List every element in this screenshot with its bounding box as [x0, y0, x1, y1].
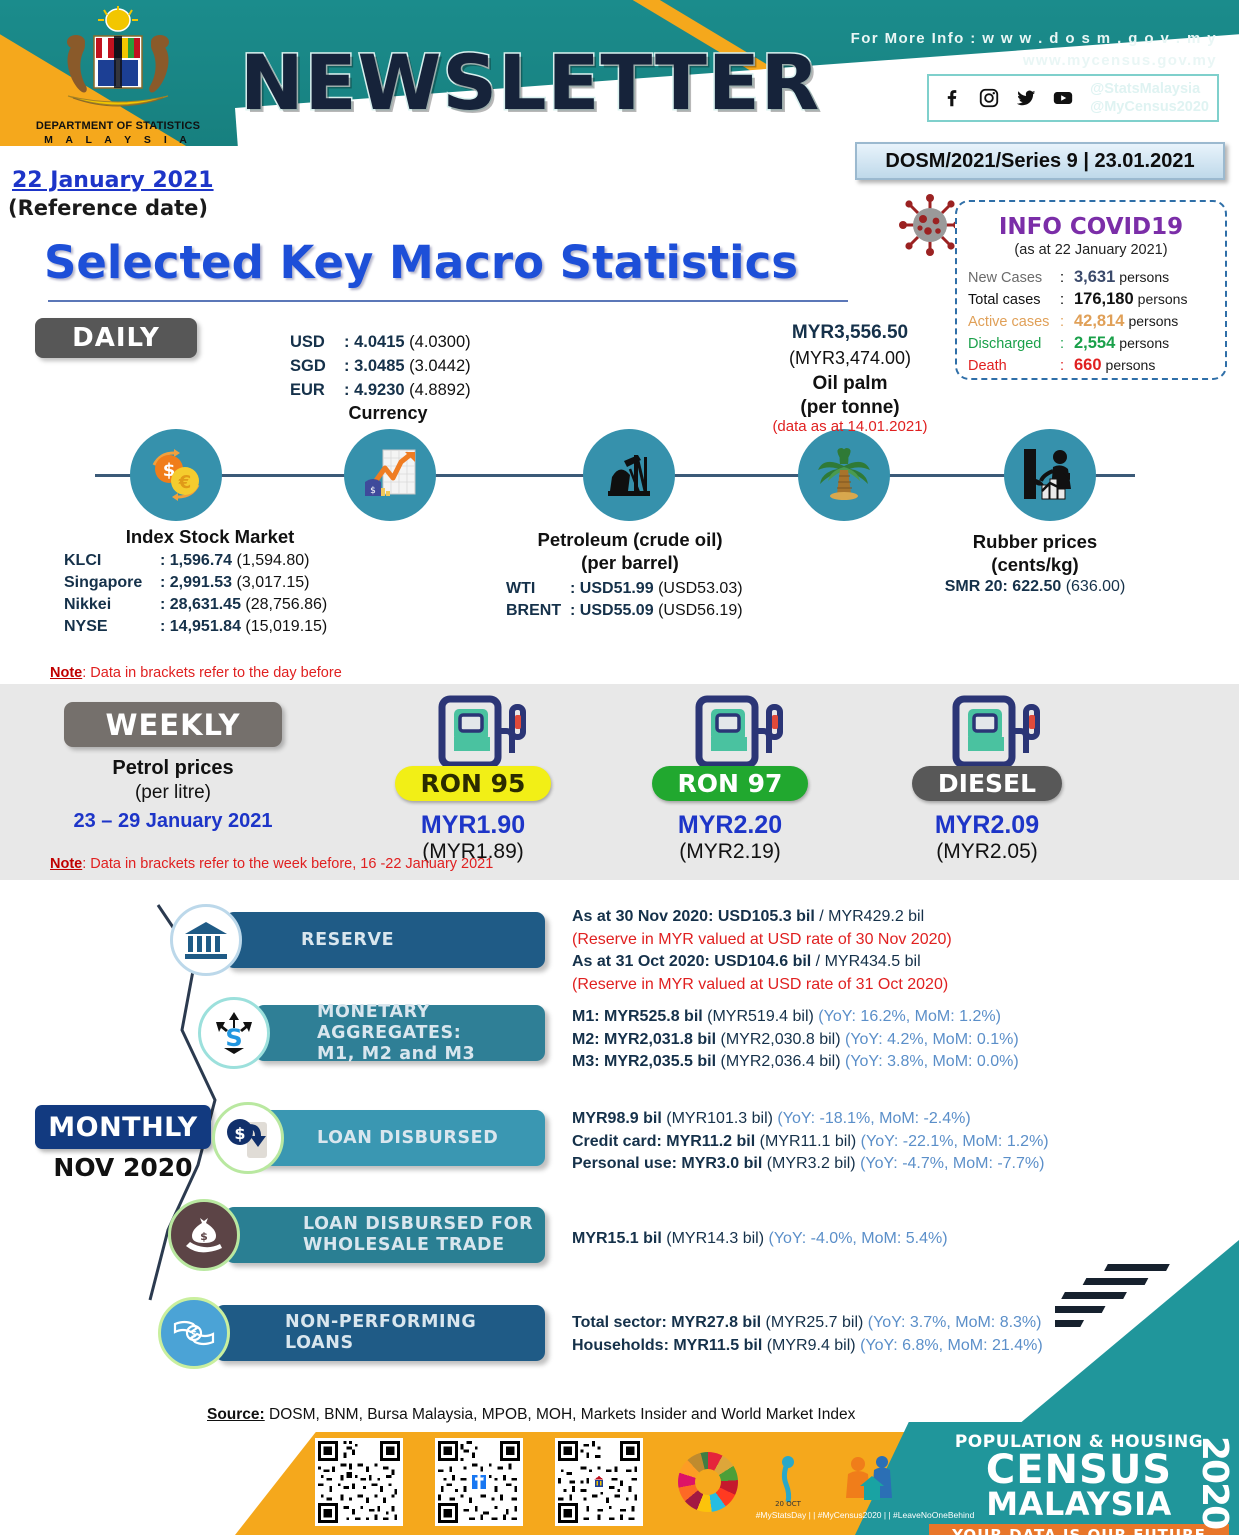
org-name-line1: DEPARTMENT OF STATISTICS — [20, 120, 216, 134]
svg-text:S: S — [225, 1024, 242, 1052]
petroleum-number-wti: USD51.99 — [580, 580, 654, 597]
weekly-note: Note: Data in brackets refer to the week… — [50, 856, 493, 872]
covid-row-new-cases: New Cases : 3,631 persons — [968, 266, 1230, 288]
stock-market-values: KLCI : 1,596.74 (1,594.80) Singapore : 2… — [64, 550, 364, 638]
stock-value-singapore: : 2,991.53 (3,017.15) — [160, 572, 309, 594]
loan-line-total: MYR98.9 bil (MYR101.3 bil) (YoY: -18.1%,… — [572, 1108, 1192, 1131]
petroleum-label-line1: Petroleum (crude oil) — [480, 528, 780, 551]
stock-value-nyse: : 14,951.84 (15,019.15) — [160, 616, 327, 638]
stock-row-nyse: NYSE : 14,951.84 (15,019.15) — [64, 616, 364, 638]
stock-number-klci: 1,596.74 — [170, 552, 232, 569]
currency-row-sgd: SGD : 3.0485 (3.0442) — [290, 354, 471, 378]
page-title: Selected Key Macro Statistics — [44, 236, 798, 289]
petroleum-prev-wti: (USD53.03) — [658, 580, 742, 597]
rubber-label-line2: (cents/kg) — [900, 553, 1170, 576]
oil-palm-prev: (MYR3,474.00) — [700, 348, 1000, 369]
daily-note-prefix: Note — [50, 665, 82, 681]
petroleum-values: WTI : USD51.99 (USD53.03) BRENT : USD55.… — [506, 578, 806, 622]
census-line2: CENSUS — [929, 1452, 1229, 1489]
stock-name-singapore: Singapore — [64, 572, 160, 594]
petroleum-row-brent: BRENT : USD55.09 (USD56.19) — [506, 600, 806, 622]
stock-market-label: Index Stock Market — [60, 525, 360, 548]
fuel-prev-ron97: (MYR2.19) — [615, 840, 845, 864]
petroleum-name-wti: WTI — [506, 578, 570, 600]
svg-text:$: $ — [370, 486, 376, 496]
monthly-bar-loan-disbursed: LOAN DISBURSED — [245, 1110, 545, 1166]
covid-row-active-cases: Active cases : 42,814 persons — [968, 310, 1230, 332]
currency-code-eur: EUR — [290, 378, 344, 402]
monthly-text-wholesale: MYR15.1 bil (MYR14.3 bil) (YoY: -4.0%, M… — [572, 1228, 1192, 1251]
census-tagline: YOUR DATA IS OUR FUTURE — [929, 1524, 1229, 1535]
stock-value-nikkei: : 28,631.45 (28,756.86) — [160, 594, 327, 616]
youtube-icon[interactable] — [1048, 83, 1078, 113]
petroleum-label: Petroleum (crude oil) (per barrel) — [480, 528, 780, 574]
currency-exchange-icon: $ € — [130, 429, 222, 521]
oil-palm-tree-icon — [798, 429, 890, 521]
svg-text:€: € — [178, 472, 192, 493]
org-name: DEPARTMENT OF STATISTICS M A L A Y S I A — [20, 120, 216, 147]
monthly-bar-wholesale-trade: LOAN DISBURSED FOR WHOLESALE TRADE — [225, 1207, 545, 1263]
series-badge-text: DOSM/2021/Series 9 | 23.01.2021 — [885, 150, 1194, 173]
covid-unit: persons — [1128, 310, 1178, 332]
reference-date: 22 January 2021 — [12, 168, 214, 193]
oil-pump-icon — [583, 429, 675, 521]
fuel-badge-diesel: DIESEL — [912, 766, 1062, 801]
covid-subtitle: (as at 22 January 2021) — [955, 242, 1227, 258]
reserve-line-1: As at 30 Nov 2020: USD105.3 bil / MYR429… — [572, 906, 1192, 929]
census-family-logo-icon — [838, 1448, 904, 1514]
daily-badge-label: DAILY — [72, 323, 160, 353]
decor-stripes — [1055, 1258, 1215, 1338]
social-links[interactable]: @StatsMalaysia @MyCensus2020 — [927, 74, 1219, 122]
rubber-label: Rubber prices (cents/kg) — [900, 530, 1170, 576]
petrol-title: Petrol prices — [64, 757, 282, 780]
monthly-badge-label: MONTHLY — [48, 1112, 197, 1143]
oil-palm-value: MYR3,556.50 — [700, 322, 1000, 344]
stock-number-nyse: 14,951.84 — [170, 618, 241, 635]
loan-phone-icon: $ — [212, 1102, 284, 1174]
weekly-badge: WEEKLY — [64, 702, 282, 747]
bank-icon — [170, 904, 242, 976]
wholesale-label-line2: WHOLESALE TRADE — [303, 1235, 505, 1255]
qr-code-mycensus[interactable] — [555, 1438, 643, 1526]
weekly-badge-label: WEEKLY — [105, 708, 240, 742]
stock-name-nikkei: Nikkei — [64, 594, 160, 616]
petroleum-value-brent: : USD55.09 (USD56.19) — [570, 600, 743, 622]
covid-unit: persons — [1106, 354, 1156, 376]
monthly-bar-label-npl: NON-PERFORMING LOANS — [285, 1312, 545, 1354]
covid-title: INFO COVID19 — [955, 214, 1227, 240]
petroleum-prev-brent: (USD56.19) — [658, 602, 742, 619]
covid-unit: persons — [1138, 288, 1188, 310]
monthly-bar-monetary-aggregates: MONETARY AGGREGATES: M1, M2 and M3 — [255, 1005, 545, 1061]
rubber-values: SMR 20: 622.50 (636.00) — [900, 578, 1170, 596]
monthly-bar-reserve: RESERVE — [225, 912, 545, 968]
svg-text:$: $ — [234, 1124, 245, 1143]
title-divider — [48, 300, 848, 302]
malaysia-coat-of-arms-icon — [28, 6, 208, 126]
mystats-day-logo-icon: 20 OCT — [758, 1452, 818, 1512]
wholesale-line-total: MYR15.1 bil (MYR14.3 bil) (YoY: -4.0%, M… — [572, 1228, 1192, 1251]
fuel-price-ron95: MYR1.90 — [358, 811, 588, 840]
petroleum-row-wti: WTI : USD51.99 (USD53.03) — [506, 578, 806, 600]
petroleum-number-brent: USD55.09 — [580, 602, 654, 619]
monthly-text-reserve: As at 30 Nov 2020: USD105.3 bil / MYR429… — [572, 906, 1192, 996]
currency-label: Currency — [290, 403, 486, 424]
petrol-subtitle: (per litre) — [64, 782, 282, 804]
rubber-prev-smr20: (636.00) — [1066, 578, 1126, 595]
currency-value-usd: : 4.0415 (4.0300) — [344, 330, 471, 354]
twitter-icon[interactable] — [1011, 83, 1041, 113]
stock-prev-nyse: (15,019.15) — [245, 618, 327, 635]
rubber-number-smr20: 622.50 — [1012, 578, 1061, 595]
monetary-line-m2: M2: MYR2,031.8 bil (MYR2,030.8 bil) (YoY… — [572, 1029, 1192, 1052]
fuel-ron97: RON 97 MYR2.20 (MYR2.19) — [615, 693, 845, 864]
reserve-line-2: (Reserve in MYR valued at USD rate of 30… — [572, 929, 1192, 952]
covid-colon: : — [1060, 267, 1074, 289]
newsletter-page: DEPARTMENT OF STATISTICS M A L A Y S I A… — [0, 0, 1239, 1535]
svg-text:$: $ — [191, 1330, 197, 1340]
petrol-date-range: 23 – 29 January 2021 — [44, 810, 302, 833]
money-bag-hand-icon: $ — [168, 1199, 240, 1271]
oil-palm-label-line2: (per tonne) — [700, 396, 1000, 420]
monthly-badge: MONTHLY — [35, 1105, 211, 1149]
money-flow-icon: S — [198, 997, 270, 1069]
monthly-bar-npl: NON-PERFORMING LOANS — [215, 1305, 545, 1361]
currency-prev-eur: (4.8892) — [409, 381, 470, 399]
monthly-bar-label-reserve: RESERVE — [301, 930, 394, 951]
source-line: Source: DOSM, BNM, Bursa Malaysia, MPOB,… — [207, 1406, 855, 1424]
currency-code-sgd: SGD — [290, 354, 344, 378]
currency-prev-usd: (4.0300) — [409, 333, 470, 351]
fuel-diesel: DIESEL MYR2.09 (MYR2.05) — [872, 693, 1102, 864]
reserve-line-3: As at 31 Oct 2020: USD104.6 bil / MYR434… — [572, 951, 1192, 974]
coronavirus-icon — [898, 193, 962, 257]
covid-colon: : — [1060, 289, 1074, 311]
covid-value-death: 660 — [1074, 354, 1106, 376]
covid-colon: : — [1060, 333, 1074, 355]
daily-badge: DAILY — [35, 318, 197, 358]
more-info-line2: www.mycensus.gov.my — [851, 50, 1217, 72]
stock-prev-singapore: (3,017.15) — [237, 574, 310, 591]
stock-prev-nikkei: (28,756.86) — [245, 596, 327, 613]
currency-rate-sgd: 3.0485 — [354, 357, 404, 375]
stock-number-nikkei: 28,631.45 — [170, 596, 241, 613]
covid-label-new-cases: New Cases — [968, 267, 1060, 289]
series-badge: DOSM/2021/Series 9 | 23.01.2021 — [855, 142, 1225, 180]
stock-name-klci: KLCI — [64, 550, 160, 572]
stock-name-nyse: NYSE — [64, 616, 160, 638]
census-logo: POPULATION & HOUSING CENSUS MALAYSIA YOU… — [929, 1432, 1229, 1535]
handover-money-icon: $ — [158, 1297, 230, 1369]
daily-note: Note: Data in brackets refer to the day … — [50, 665, 342, 681]
covid-row-total-cases: Total cases : 176,180 persons — [968, 288, 1230, 310]
instagram-icon[interactable] — [974, 83, 1004, 113]
monthly-bar-label-wholesale: LOAN DISBURSED FOR WHOLESALE TRADE — [303, 1214, 533, 1256]
census-line3: MALAYSIA — [929, 1489, 1229, 1520]
covid-unit: persons — [1119, 266, 1169, 288]
fuel-price-diesel: MYR2.09 — [872, 811, 1102, 840]
loan-line-credit-card: Credit card: MYR11.2 bil (MYR11.1 bil) (… — [572, 1131, 1192, 1154]
census-year: 2020 — [1194, 1436, 1235, 1528]
monthly-month: NOV 2020 — [35, 1153, 211, 1182]
rubber-name-smr20: SMR 20: — [945, 578, 1008, 595]
reserve-line-4: (Reserve in MYR valued at USD rate of 31… — [572, 974, 1192, 997]
currency-code-usd: USD — [290, 330, 344, 354]
org-name-line2: M A L A Y S I A — [20, 134, 216, 147]
sdg-wheel-center — [695, 1469, 721, 1495]
stock-row-singapore: Singapore : 2,991.53 (3,017.15) — [64, 572, 364, 594]
stock-row-klci: KLCI : 1,596.74 (1,594.80) — [64, 550, 364, 572]
petroleum-label-line2: (per barrel) — [480, 551, 780, 574]
fuel-badge-ron95: RON 95 — [395, 766, 552, 801]
currency-rates: USD : 4.0415 (4.0300) SGD : 3.0485 (3.04… — [290, 330, 471, 402]
covid-unit: persons — [1119, 332, 1169, 354]
covid-label-total-cases: Total cases — [968, 289, 1060, 311]
rubber-label-line1: Rubber prices — [900, 530, 1170, 553]
fuel-price-ron97: MYR2.20 — [615, 811, 845, 840]
currency-row-eur: EUR : 4.9230 (4.8892) — [290, 378, 471, 402]
svg-text:$: $ — [200, 1230, 208, 1243]
monthly-text-loan-disbursed: MYR98.9 bil (MYR101.3 bil) (YoY: -18.1%,… — [572, 1108, 1192, 1176]
stock-row-nikkei: Nikkei : 28,631.45 (28,756.86) — [64, 594, 364, 616]
monthly-bar-label-monetary: MONETARY AGGREGATES: M1, M2 and M3 — [317, 1002, 545, 1065]
handle-mycensus: @MyCensus2020 — [1090, 98, 1209, 116]
source-prefix: Source: — [207, 1406, 265, 1423]
reference-date-label: (Reference date) — [8, 196, 208, 220]
qr-code-facebook[interactable] — [435, 1438, 523, 1526]
monetary-label-line1: MONETARY AGGREGATES: — [317, 1002, 461, 1043]
newsletter-wordmark: NEWSLETTER — [240, 38, 820, 127]
covid-colon: : — [1060, 311, 1074, 333]
stock-number-singapore: 2,991.53 — [170, 574, 232, 591]
monthly-text-monetary: M1: MYR525.8 bil (MYR519.4 bil) (YoY: 16… — [572, 1006, 1192, 1074]
qr-code-dosm[interactable] — [315, 1438, 403, 1526]
currency-value-eur: : 4.9230 (4.8892) — [344, 378, 471, 402]
fuel-ron95: RON 95 MYR1.90 (MYR1.89) — [358, 693, 588, 864]
facebook-icon[interactable] — [937, 83, 967, 113]
handle-statsmalaysia: @StatsMalaysia — [1090, 80, 1209, 98]
covid-row-discharged: Discharged : 2,554 persons — [968, 332, 1230, 354]
currency-rate-eur: 4.9230 — [354, 381, 404, 399]
social-handles: @StatsMalaysia @MyCensus2020 — [1090, 80, 1209, 116]
rubber-tapper-icon — [1004, 429, 1096, 521]
petroleum-value-wti: : USD51.99 (USD53.03) — [570, 578, 743, 600]
oil-palm-label: Oil palm (per tonne) — [700, 372, 1000, 420]
currency-rate-usd: 4.0415 — [354, 333, 404, 351]
loan-line-personal-use: Personal use: MYR3.0 bil (MYR3.2 bil) (Y… — [572, 1153, 1192, 1176]
more-info-line1: For More Info : w w w . d o s m . g o v … — [851, 28, 1217, 50]
source-text: DOSM, BNM, Bursa Malaysia, MPOB, MOH, Ma… — [265, 1406, 856, 1423]
wholesale-label-line1: LOAN DISBURSED FOR — [303, 1214, 533, 1234]
covid-value-new-cases: 3,631 — [1074, 266, 1119, 288]
covid-value-discharged: 2,554 — [1074, 332, 1119, 354]
petroleum-name-brent: BRENT — [506, 600, 570, 622]
currency-prev-sgd: (3.0442) — [409, 357, 470, 375]
stock-market-icon: $ — [344, 429, 436, 521]
stock-value-klci: : 1,596.74 (1,594.80) — [160, 550, 309, 572]
covid-value-total-cases: 176,180 — [1074, 288, 1138, 310]
covid-colon: : — [1060, 355, 1074, 377]
covid-value-active-cases: 42,814 — [1074, 310, 1128, 332]
daily-note-text: : Data in brackets refer to the day befo… — [82, 665, 342, 681]
fuel-prev-diesel: (MYR2.05) — [872, 840, 1102, 864]
monetary-line-m1: M1: MYR525.8 bil (MYR519.4 bil) (YoY: 16… — [572, 1006, 1192, 1029]
more-info: For More Info : w w w . d o s m . g o v … — [851, 28, 1217, 72]
covid-row-death: Death : 660 persons — [968, 354, 1230, 376]
currency-row-usd: USD : 4.0415 (4.0300) — [290, 330, 471, 354]
weekly-note-text: : Data in brackets refer to the week bef… — [82, 856, 493, 872]
fuel-badge-ron97: RON 97 — [652, 766, 809, 801]
monetary-line-m3: M3: MYR2,035.5 bil (MYR2,036.4 bil) (YoY… — [572, 1051, 1192, 1074]
covid-stats: New Cases : 3,631 persons Total cases : … — [968, 266, 1230, 376]
monetary-label-line2: M1, M2 and M3 — [317, 1044, 475, 1064]
monthly-bar-label-loan: LOAN DISBURSED — [317, 1128, 498, 1149]
oil-palm-label-line1: Oil palm — [700, 372, 1000, 396]
oil-palm-note: (data as at 14.01.2021) — [700, 418, 1000, 435]
stock-prev-klci: (1,594.80) — [237, 552, 310, 569]
weekly-note-prefix: Note — [50, 856, 82, 872]
currency-value-sgd: : 3.0485 (3.0442) — [344, 354, 471, 378]
svg-text:20 OCT: 20 OCT — [775, 1500, 802, 1508]
